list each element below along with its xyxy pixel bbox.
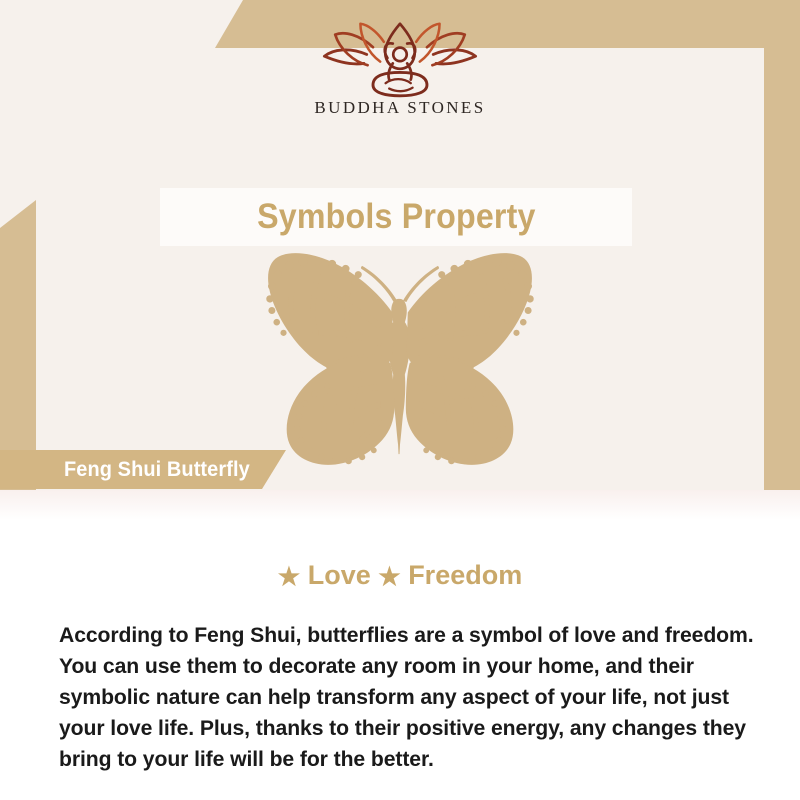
subheading-word-love: Love [308, 560, 371, 590]
feng-shui-butterfly-tag: Feng Shui Butterfly [0, 450, 286, 489]
lotus-meditation-figure-icon [310, 22, 490, 96]
subheading-word-freedom: Freedom [408, 560, 522, 590]
brand-name: BUDDHA STONES [314, 98, 485, 118]
star-icon-middle: ★ [378, 563, 400, 591]
page-title: Symbols Property [257, 197, 536, 237]
content-panel: BUDDHA STONES Symbols Property [36, 48, 764, 752]
section-subheading: ★ Love ★ Freedom [0, 562, 800, 590]
butterfly-illustration [36, 234, 764, 488]
brand-header: BUDDHA STONES [36, 48, 764, 140]
tag-label: Feng Shui Butterfly [64, 458, 250, 482]
description-section: ★ Love ★ Freedom According to Feng Shui,… [0, 490, 800, 800]
decorative-frame-top [215, 0, 800, 48]
star-icon-left: ★ [278, 563, 300, 591]
description-body: According to Feng Shui, butterflies are … [59, 620, 769, 775]
section-fade [0, 490, 800, 520]
promo-graphic: BUDDHA STONES Symbols Property [0, 0, 800, 800]
monarch-butterfly-icon [235, 245, 565, 477]
